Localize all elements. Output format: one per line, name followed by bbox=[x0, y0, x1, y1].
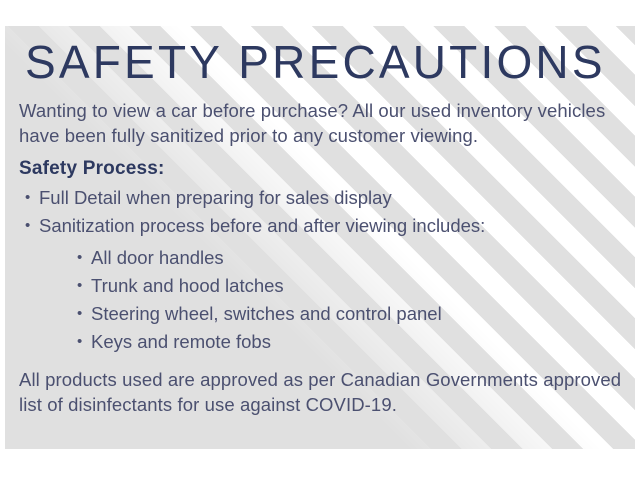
list-item: Keys and remote fobs bbox=[77, 328, 617, 356]
poster-content: SAFETY PRECAUTIONS Wanting to view a car… bbox=[5, 26, 635, 449]
intro-paragraph: Wanting to view a car before purchase? A… bbox=[19, 98, 623, 148]
list-item: All door handles bbox=[77, 244, 617, 272]
list-item: Full Detail when preparing for sales dis… bbox=[25, 184, 625, 212]
list-item: Sanitization process before and after vi… bbox=[25, 212, 625, 240]
process-bullet-list: Full Detail when preparing for sales dis… bbox=[25, 184, 625, 240]
list-item: Steering wheel, switches and control pan… bbox=[77, 300, 617, 328]
sanitization-bullet-list: All door handles Trunk and hood latches … bbox=[77, 244, 617, 356]
page-title: SAFETY PRECAUTIONS bbox=[25, 36, 606, 88]
safety-precautions-poster: SAFETY PRECAUTIONS Wanting to view a car… bbox=[0, 0, 640, 480]
list-item: Trunk and hood latches bbox=[77, 272, 617, 300]
section-heading-safety-process: Safety Process: bbox=[19, 156, 165, 181]
footer-paragraph: All products used are approved as per Ca… bbox=[19, 367, 623, 417]
content-panel: SAFETY PRECAUTIONS Wanting to view a car… bbox=[5, 26, 635, 449]
